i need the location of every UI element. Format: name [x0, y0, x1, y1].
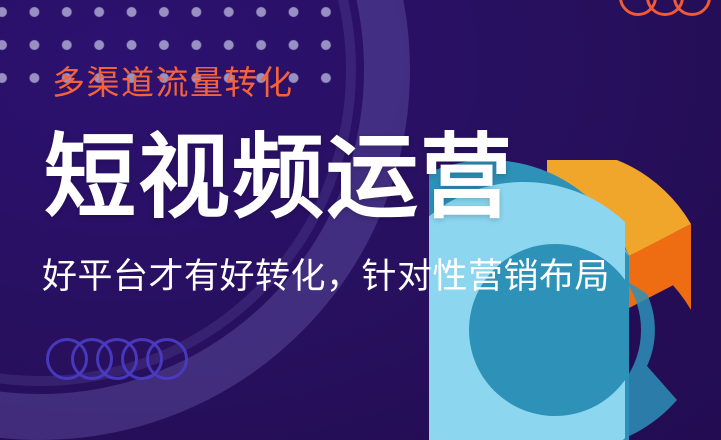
circle-outline-icon: [46, 338, 88, 380]
arc-outline-icon: [619, 0, 657, 16]
circle-outline-icon: [146, 338, 188, 380]
poster-canvas: 多渠道流量转化 短视频运营 好平台才有好转化，针对性营销布局: [0, 0, 721, 440]
poster-subtitle-text: 好平台才有好转化，针对性营销布局: [42, 258, 610, 297]
circle-outline-icon: [71, 338, 113, 380]
circle-outline-icon: [121, 338, 163, 380]
arc-outline-icon: [673, 0, 711, 16]
poster-headline-title: 短视频运营: [44, 132, 514, 224]
iso-blue-top-face: [435, 204, 629, 440]
circle-outline-icon: [96, 338, 138, 380]
iso-orange-top-face: [547, 160, 691, 256]
iso-blue-inner-shading: [625, 280, 677, 438]
arc-outline-icon: [646, 0, 684, 16]
poster-kicker-text: 多渠道流量转化: [52, 66, 294, 99]
iso-orange-bevel: [629, 224, 691, 308]
